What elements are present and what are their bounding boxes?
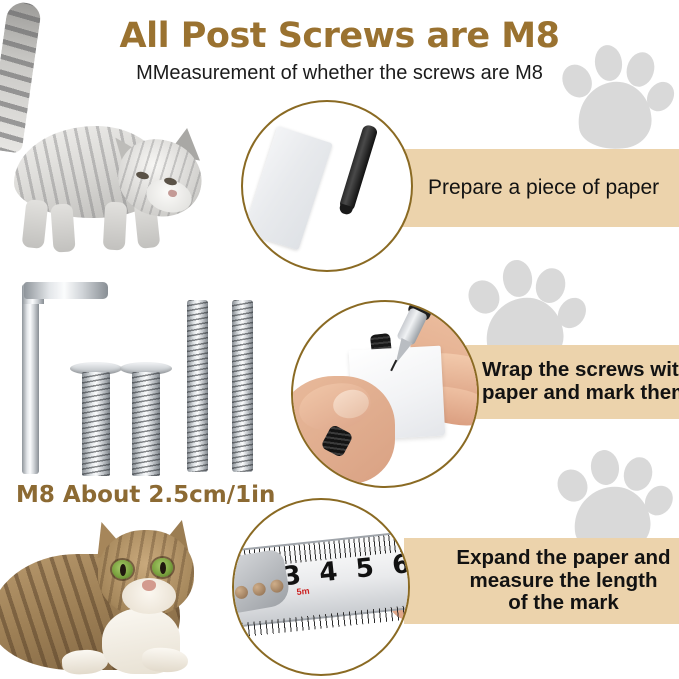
- step-1-banner: Prepare a piece of paper: [400, 149, 679, 227]
- tape-measure-photo: 3 4 5 6 5m: [232, 498, 410, 676]
- hex-key-short-arm: [24, 282, 108, 299]
- step-1-banner-text: Prepare a piece of paper: [428, 176, 659, 200]
- tape-number: 4: [318, 557, 339, 589]
- step-3-banner-text: Expand the paper and measure the length …: [456, 547, 670, 616]
- cat-leg: [22, 199, 49, 249]
- tape-measure: 3 4 5 6 5m: [232, 522, 410, 647]
- brown-tabby-cat-photo: [0, 520, 242, 679]
- infographic-canvas: All Post Screws are M8 MMeasurement of w…: [0, 0, 679, 679]
- tape-range-label: 5m: [296, 586, 310, 597]
- marker-pen: [338, 124, 378, 213]
- m8-size-note: M8 About 2.5cm/1in: [16, 482, 275, 508]
- step-2-banner: Wrap the screws with paper and mark them: [466, 345, 679, 419]
- cat-leg: [50, 203, 75, 252]
- screw-hardware-photo: [10, 278, 272, 486]
- wrapping-screw-photo: [291, 300, 479, 488]
- page-title: All Post Screws are M8: [0, 16, 679, 56]
- bolt-threaded-shank: [82, 372, 110, 476]
- cat-front-paw: [61, 648, 109, 675]
- hex-key-long-arm: [22, 284, 39, 474]
- cat-pupil: [160, 562, 166, 574]
- bolt-threaded-shank: [132, 372, 160, 476]
- paper-and-marker-photo: [241, 100, 413, 272]
- page-subtitle: MMeasurement of whether the screws are M…: [0, 62, 679, 85]
- cat-nose: [142, 580, 156, 591]
- step-2-banner-text: Wrap the screws with paper and mark them: [482, 359, 679, 405]
- tape-number: 6: [391, 549, 410, 581]
- threaded-rod: [187, 300, 208, 472]
- cat-front-paw: [141, 647, 188, 673]
- step-3-banner: Expand the paper and measure the length …: [404, 538, 679, 624]
- tape-number: 5: [354, 553, 375, 585]
- rivet: [269, 579, 284, 594]
- cat-pupil: [120, 564, 126, 576]
- paw-toe: [500, 259, 533, 299]
- rivet: [252, 582, 267, 597]
- cat-leg: [103, 201, 127, 250]
- paper-strip: [243, 126, 333, 250]
- threaded-rod: [232, 300, 253, 472]
- rivet: [234, 585, 249, 600]
- paw-toe: [589, 448, 622, 487]
